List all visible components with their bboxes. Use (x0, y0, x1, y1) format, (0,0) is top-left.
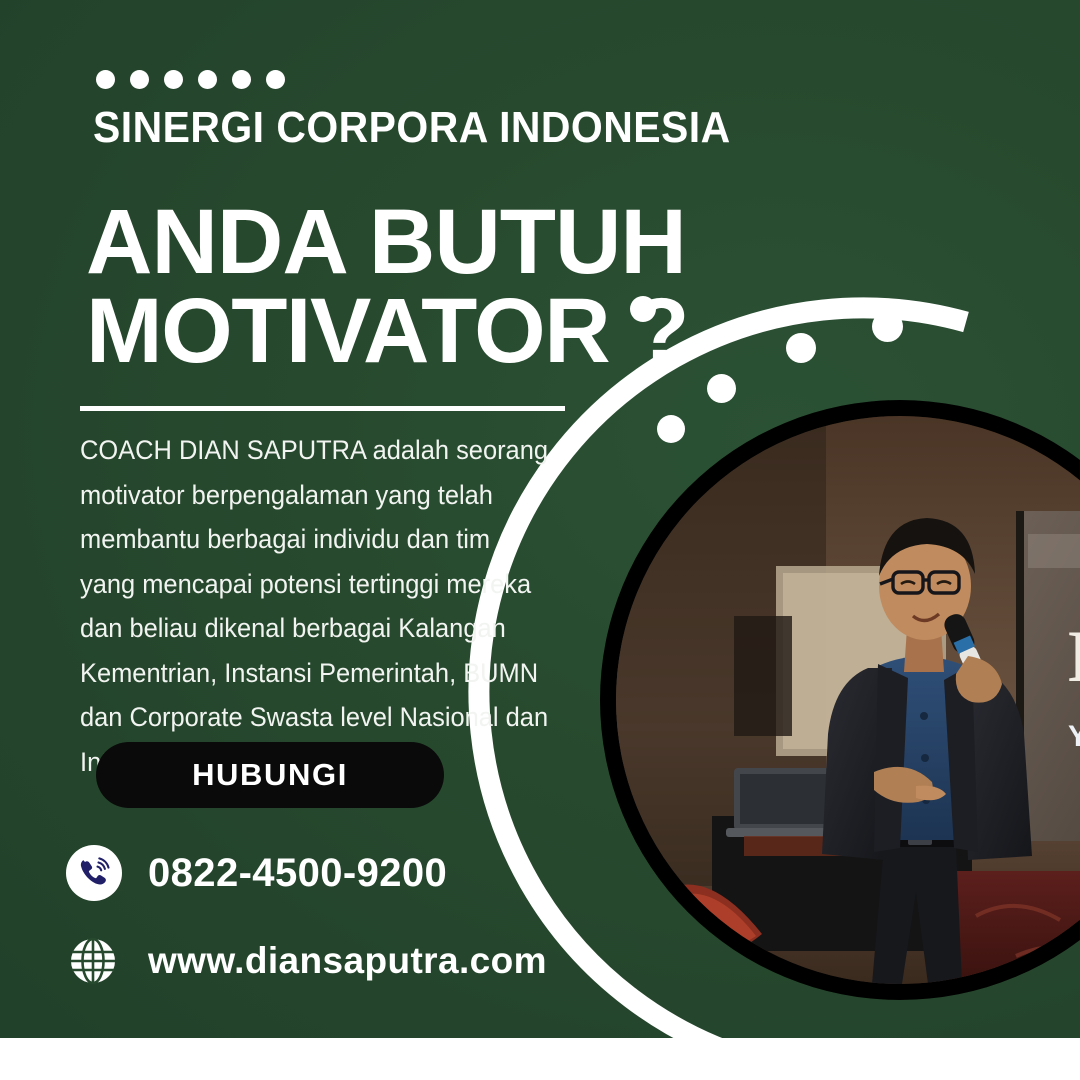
decorative-dot (872, 311, 903, 342)
speaker-photo-image: HA Yang M (616, 416, 1080, 984)
website-contact-row[interactable]: www.diansaputra.com (64, 932, 547, 990)
phone-contact-row[interactable]: 0822-4500-9200 (66, 845, 447, 901)
brand-dot (266, 70, 285, 89)
website-url: www.diansaputra.com (148, 940, 547, 982)
brand-dot (96, 70, 115, 89)
headline-line-2: MOTIVATOR ? (86, 287, 688, 376)
body-paragraph: COACH DIAN SAPUTRA adalah seorang motiva… (80, 428, 552, 784)
svg-text:HA: HA (1068, 616, 1080, 698)
decorative-dot (657, 415, 685, 443)
globe-icon (64, 932, 122, 990)
brand-dot (164, 70, 183, 89)
brand-dot (232, 70, 251, 89)
phone-number: 0822-4500-9200 (148, 851, 447, 896)
brand-dot (130, 70, 149, 89)
contact-button-label: HUBUNGI (192, 757, 348, 793)
headline-line-1: ANDA BUTUH (86, 198, 688, 287)
brand-dots (96, 70, 285, 89)
phone-ringing-icon (66, 845, 122, 901)
svg-text:Yang M: Yang M (1068, 720, 1080, 753)
brand-dot (198, 70, 217, 89)
divider-rule (80, 406, 565, 411)
decorative-dot (786, 333, 816, 363)
decorative-dot (707, 374, 736, 403)
poster-canvas: SINERGI CORPORA INDONESIA ANDA BUTUH MOT… (0, 0, 1080, 1080)
page-title: ANDA BUTUH MOTIVATOR ? (86, 198, 688, 376)
brand-name: SINERGI CORPORA INDONESIA (93, 105, 731, 151)
contact-button[interactable]: HUBUNGI (96, 742, 444, 808)
